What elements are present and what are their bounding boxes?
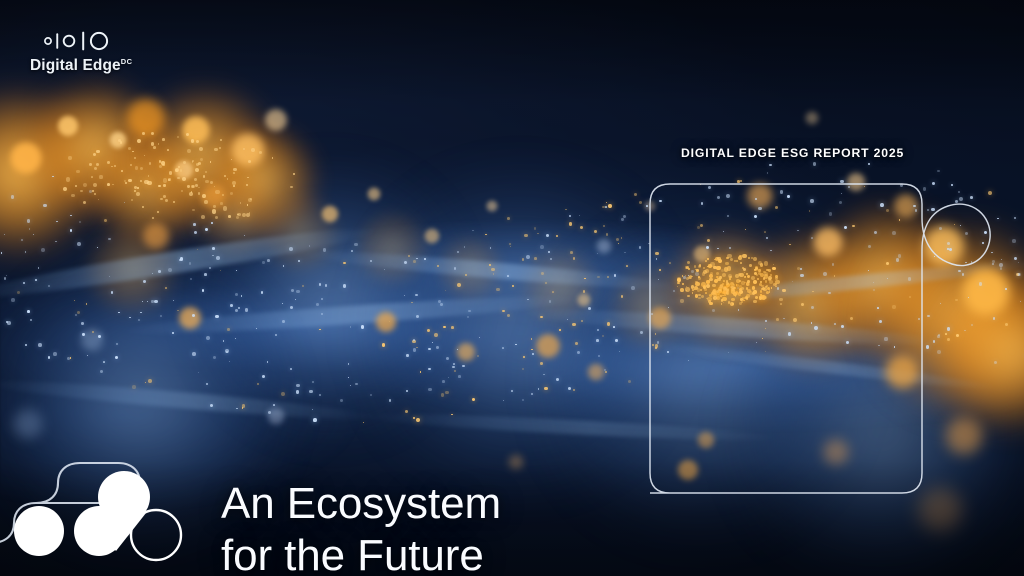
ecosystem-node-glyph-icon [0, 447, 212, 563]
brand-lockup[interactable]: Digital EdgeDC [30, 30, 170, 75]
headline-line-1: An Ecosystem [221, 478, 501, 530]
brand-wordmark-superscript: DC [121, 57, 133, 66]
eyebrow-label: DIGITAL EDGE ESG REPORT 2025 [681, 146, 904, 160]
brand-wordmark: Digital EdgeDC [30, 57, 170, 75]
headline-line-2: for the Future [221, 530, 501, 576]
report-cover-slide: Digital EdgeDC DIGITAL EDGE ESG REPORT 2… [0, 0, 1024, 576]
decorative-frame [630, 100, 1010, 510]
brand-wordmark-text: Digital Edge [30, 57, 121, 74]
page-title: An Ecosystem for the Future [221, 478, 501, 576]
digital-edge-mark-icon [42, 30, 116, 52]
